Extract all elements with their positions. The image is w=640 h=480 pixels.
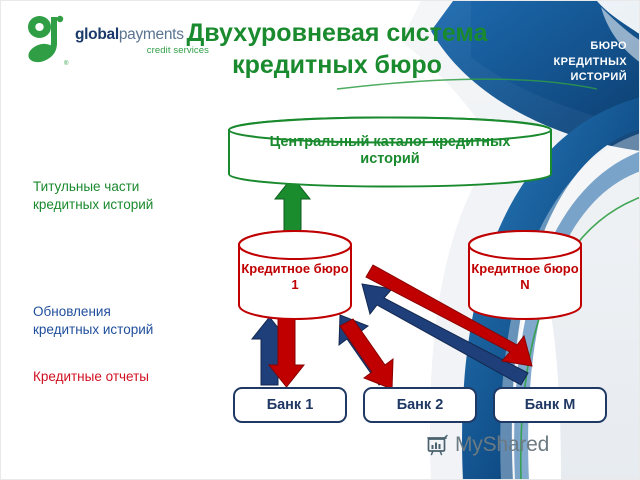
logo-word-global: global bbox=[75, 26, 119, 43]
banner-line-3: ИСТОРИЙ bbox=[515, 70, 627, 86]
registered-mark: ® bbox=[64, 61, 68, 67]
credit-bureau-1-label: Кредитное бюро 1 bbox=[237, 261, 353, 292]
presentation-chart-icon bbox=[425, 433, 449, 457]
slide-canvas: globalpayments credit services ® Двухуро… bbox=[0, 0, 640, 480]
myshared-watermark: MyShared bbox=[425, 433, 549, 457]
credit-bureau-n-node[interactable]: Кредитное бюро N bbox=[467, 229, 583, 321]
corner-banner-text: БЮРО КРЕДИТНЫХ ИСТОРИЙ bbox=[515, 39, 627, 86]
legend-item-updates: Обновления кредитных историй bbox=[33, 303, 153, 339]
arrow-reports-bureau1-to-bank2 bbox=[340, 319, 393, 389]
legend-item-title-parts: Титульные части кредитных историй bbox=[33, 178, 153, 214]
page-title-line-1: Двухуровневая система bbox=[177, 17, 497, 49]
credit-bureau-1-node[interactable]: Кредитное бюро 1 bbox=[237, 229, 353, 321]
bank-1-node[interactable]: Банк 1 bbox=[233, 387, 347, 423]
bank-2-node[interactable]: Банк 2 bbox=[363, 387, 477, 423]
arrow-updates-bank2-to-bureau1 bbox=[339, 315, 392, 385]
myshared-watermark-label: MyShared bbox=[455, 433, 549, 457]
banner-line-2: КРЕДИТНЫХ bbox=[515, 55, 627, 71]
logo-wordmark: globalpayments bbox=[75, 27, 184, 43]
central-catalog-node[interactable]: Центральный каталог кредитных историй bbox=[227, 116, 553, 188]
bank-m-node[interactable]: Банк М bbox=[493, 387, 607, 423]
logo-word-payments: payments bbox=[119, 26, 184, 43]
global-payments-g-icon bbox=[25, 15, 71, 67]
banner-line-1: БЮРО bbox=[515, 39, 627, 55]
arrow-reports-bureau1-to-bank1 bbox=[269, 319, 304, 387]
page-title-line-2: кредитных бюро bbox=[177, 49, 497, 81]
arrow-updates-bank1-to-bureau1 bbox=[252, 317, 287, 385]
page-title: Двухуровневая система кредитных бюро bbox=[177, 17, 497, 81]
legend-item-reports: Кредитные отчеты bbox=[33, 368, 149, 386]
credit-bureau-n-label: Кредитное бюро N bbox=[467, 261, 583, 292]
central-catalog-label: Центральный каталог кредитных историй bbox=[227, 134, 553, 169]
